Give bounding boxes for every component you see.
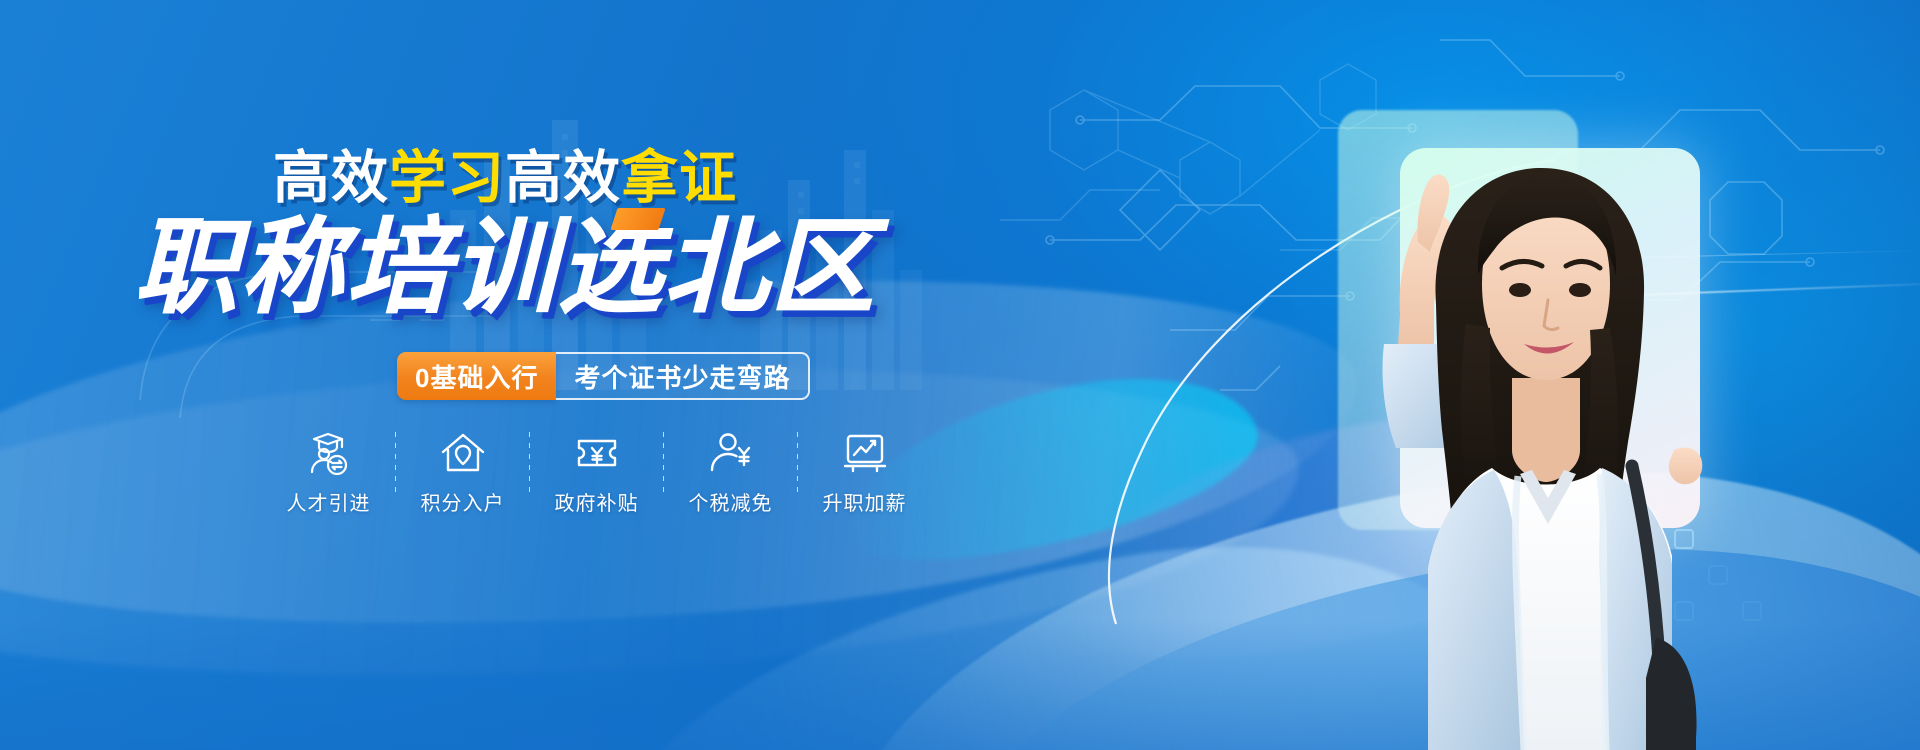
kicker-highlight-1: 学习 bbox=[389, 146, 505, 210]
banner-copy-block: 高效学习高效拿证 职称培训选北区 0基础入行 考个证书少走弯路 bbox=[0, 0, 1100, 750]
feature-list: 人才引进 积分入户 政府补贴 bbox=[262, 428, 931, 516]
kicker-line: 高效学习高效拿证 bbox=[0, 150, 1010, 207]
promo-banner: 高效学习高效拿证 职称培训选北区 0基础入行 考个证书少走弯路 bbox=[0, 0, 1920, 750]
feature-label: 政府补贴 bbox=[555, 487, 639, 516]
feature-item-talent[interactable]: 人才引进 bbox=[262, 428, 395, 516]
feature-label: 个税减免 bbox=[689, 487, 773, 516]
page-title: 职称培训选北区 bbox=[0, 214, 1010, 323]
feature-item-tax[interactable]: 个税减免 bbox=[664, 428, 797, 516]
pointing-woman-photo bbox=[1280, 78, 1750, 750]
ticket-yuan-icon bbox=[572, 428, 622, 478]
feature-label: 积分入户 bbox=[421, 487, 505, 516]
badge-tag: 0基础入行 bbox=[397, 352, 556, 400]
feature-item-promotion[interactable]: 升职加薪 bbox=[798, 428, 931, 516]
headline-text: 职称培训选北区 bbox=[134, 210, 876, 326]
chart-board-icon bbox=[840, 428, 890, 478]
badge-desc: 考个证书少走弯路 bbox=[556, 352, 810, 400]
orange-accent-mark-icon bbox=[610, 208, 665, 230]
person-yuan-icon bbox=[706, 428, 756, 478]
kicker-part-1: 高效 bbox=[273, 146, 389, 210]
feature-item-subsidy[interactable]: 政府补贴 bbox=[530, 428, 663, 516]
feature-item-residency[interactable]: 积分入户 bbox=[396, 428, 529, 516]
feature-label: 升职加薪 bbox=[823, 487, 907, 516]
graduate-exchange-icon bbox=[304, 428, 354, 478]
kicker-highlight-2: 拿证 bbox=[621, 146, 737, 210]
hero-figure-group bbox=[1220, 0, 1780, 750]
house-pin-icon bbox=[438, 428, 488, 478]
feature-label: 人才引进 bbox=[287, 487, 371, 516]
kicker-part-2: 高效 bbox=[505, 146, 621, 210]
tagline-badge: 0基础入行 考个证书少走弯路 bbox=[397, 352, 810, 400]
